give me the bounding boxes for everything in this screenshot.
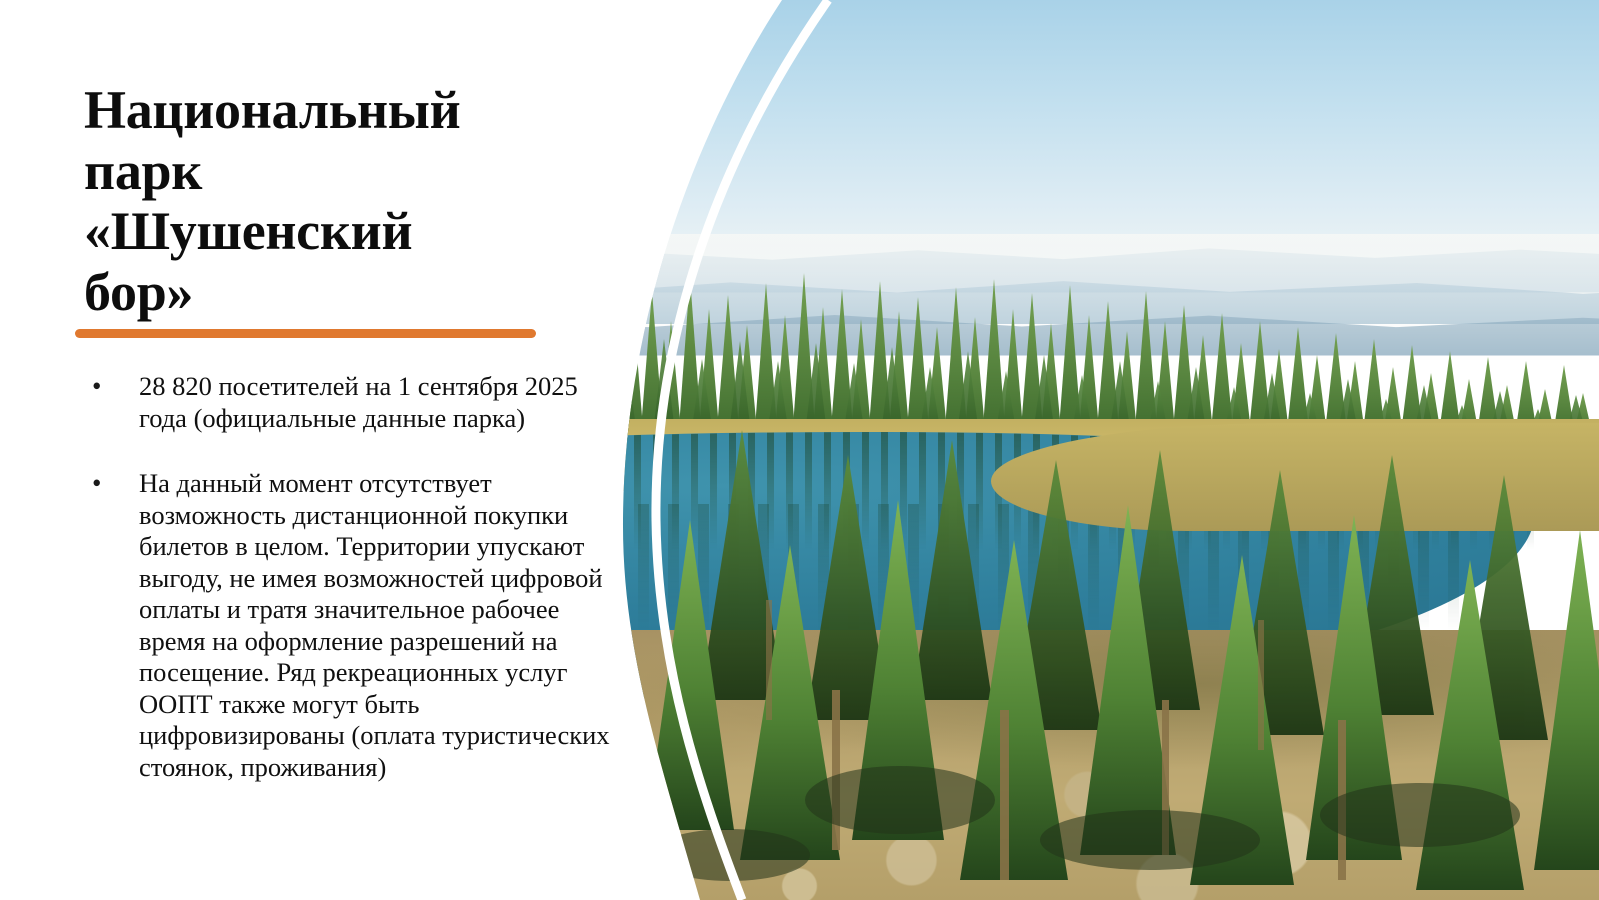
text-column: Национальный парк «Шушенский бор» • 28 8… [0,0,630,900]
list-item: • 28 820 посетителей на 1 сентября 2025 … [75,371,620,434]
page-title: Национальный парк «Шушенский бор» [84,80,604,322]
photo-inner-white-arc [656,0,828,900]
bullet-marker: • [75,468,139,783]
slide-canvas: Национальный парк «Шушенский бор» • 28 8… [0,0,1599,900]
bullet-text: 28 820 посетителей на 1 сентября 2025 го… [139,371,620,434]
photo-shore-right [991,423,1599,531]
bullet-list: • 28 820 посетителей на 1 сентября 2025 … [75,371,620,817]
bullet-text: На данный момент отсутствует возможность… [139,468,620,783]
list-item: • На данный момент отсутствует возможнос… [75,468,620,783]
bullet-marker: • [75,371,139,434]
title-underline-rule [75,329,536,338]
